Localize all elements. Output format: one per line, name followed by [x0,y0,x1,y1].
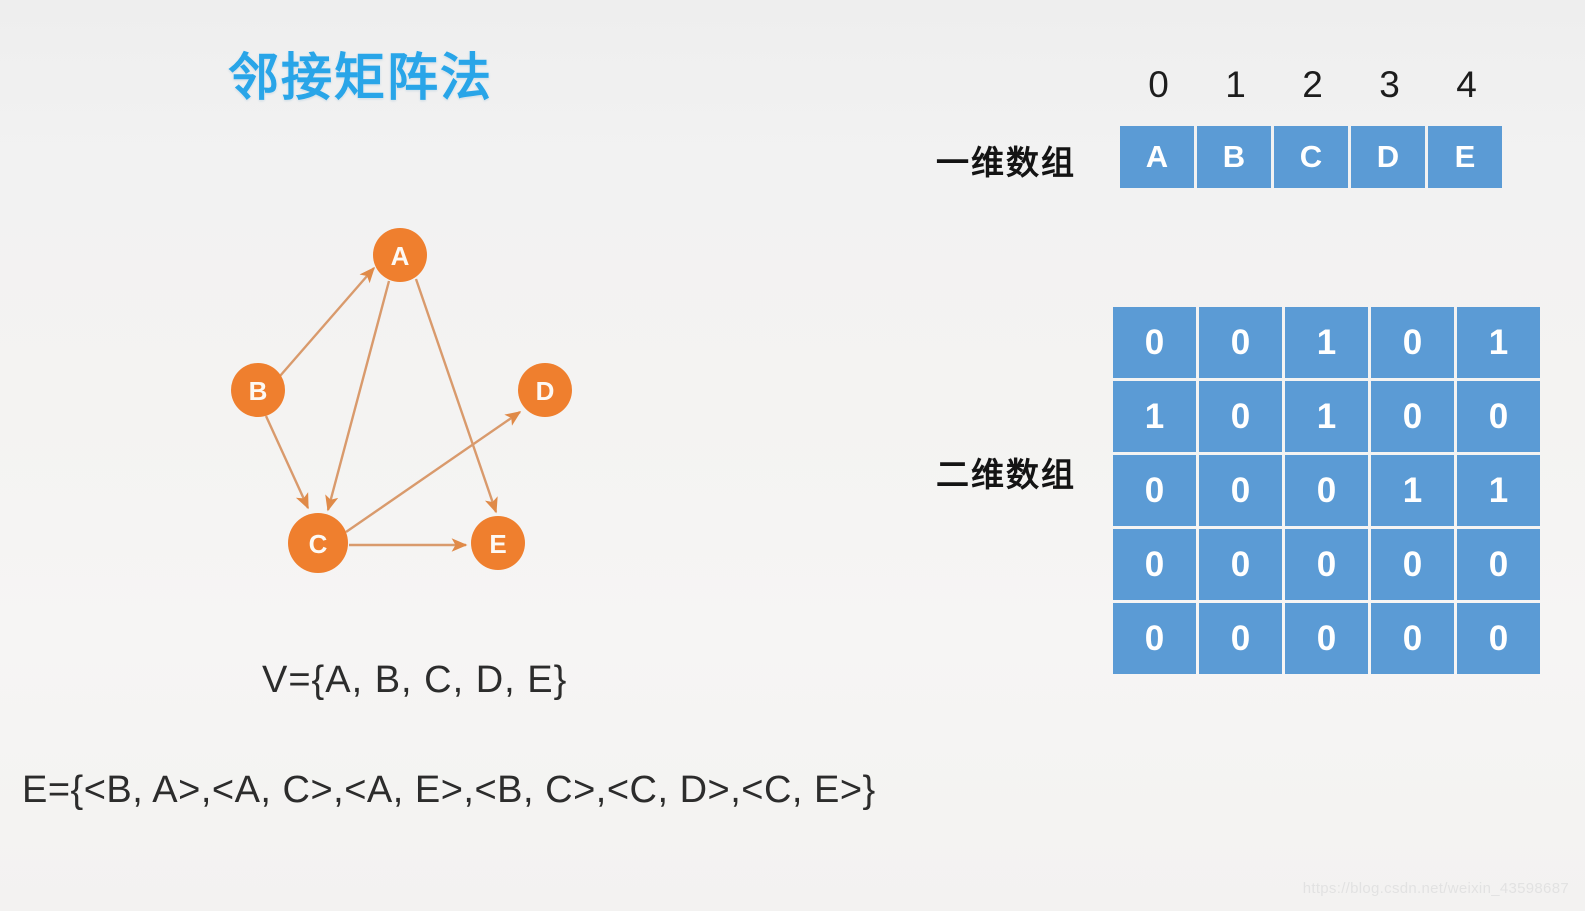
matrix-cell-2-4[interactable]: 1 [1457,455,1540,526]
matrix-cell-0-2[interactable]: 1 [1285,307,1368,378]
matrix-cell-1-1[interactable]: 0 [1199,381,1282,452]
matrix-cell-0-1[interactable]: 0 [1199,307,1282,378]
matrix-cell-0-0[interactable]: 0 [1113,307,1196,378]
graph-svg: A B C D E [200,200,630,600]
matrix-cell-2-0[interactable]: 0 [1113,455,1196,526]
vertex-set-formula: V={A, B, C, D, E} [262,659,567,702]
matrix-cell-0-3[interactable]: 0 [1371,307,1454,378]
graph-node-b[interactable]: B [231,363,285,417]
matrix-cell-3-3[interactable]: 0 [1371,529,1454,600]
graph-node-e-label: E [489,529,506,559]
array1d-cell-row: A B C D E [1120,126,1502,188]
watermark: https://blog.csdn.net/weixin_43598687 [1303,880,1569,897]
matrix-cell-4-4[interactable]: 0 [1457,603,1540,674]
array1d-index-0: 0 [1120,64,1197,106]
array1d-cell-3[interactable]: D [1351,126,1425,188]
slide-canvas: 邻接矩阵法 [0,0,1585,911]
adjacency-matrix-grid: 0 0 1 0 1 1 0 1 0 0 0 0 0 1 1 0 [1113,307,1540,674]
table-row: 0 0 0 0 0 [1113,529,1540,600]
array1d-index-2: 2 [1274,64,1351,106]
matrix-cell-1-0[interactable]: 1 [1113,381,1196,452]
matrix-cell-4-1[interactable]: 0 [1199,603,1282,674]
graph-node-e[interactable]: E [471,516,525,570]
edge-set-formula: E={<B, A>,<A, C>,<A, E>,<B, C>,<C, D>,<C… [22,769,876,812]
matrix-cell-3-1[interactable]: 0 [1199,529,1282,600]
array1d-index-4: 4 [1428,64,1505,106]
page-title: 邻接矩阵法 [228,36,493,110]
graph-node-b-label: B [249,376,268,406]
array1d-cell-0[interactable]: A [1120,126,1194,188]
array1d-index-row: 0 1 2 3 4 [1120,64,1505,106]
matrix-cell-2-1[interactable]: 0 [1199,455,1282,526]
matrix-cell-2-2[interactable]: 0 [1285,455,1368,526]
matrix-cell-3-4[interactable]: 0 [1457,529,1540,600]
array1d-index-3: 3 [1351,64,1428,106]
table-row: 1 0 1 0 0 [1113,381,1540,452]
table-row: 0 0 0 0 0 [1113,603,1540,674]
graph-edge-a-e [416,279,496,512]
graph-node-group: A B C D E [231,228,572,573]
graph-diagram: A B C D E [200,200,630,600]
matrix-cell-4-0[interactable]: 0 [1113,603,1196,674]
graph-node-d-label: D [536,376,555,406]
graph-node-c[interactable]: C [288,513,348,573]
array1d-label: 一维数组 [936,136,1076,184]
graph-node-a-label: A [391,241,410,271]
graph-edge-group [266,268,520,545]
matrix2d-label: 二维数组 [936,448,1076,496]
matrix-cell-1-2[interactable]: 1 [1285,381,1368,452]
array1d-cell-1[interactable]: B [1197,126,1271,188]
table-row: 0 0 1 0 1 [1113,307,1540,378]
matrix-cell-3-2[interactable]: 0 [1285,529,1368,600]
matrix-cell-4-2[interactable]: 0 [1285,603,1368,674]
array1d-cell-2[interactable]: C [1274,126,1348,188]
graph-edge-b-a [280,268,374,376]
table-row: 0 0 0 1 1 [1113,455,1540,526]
matrix-cell-1-4[interactable]: 0 [1457,381,1540,452]
matrix-cell-2-3[interactable]: 1 [1371,455,1454,526]
matrix-cell-3-0[interactable]: 0 [1113,529,1196,600]
graph-node-a[interactable]: A [373,228,427,282]
graph-edge-b-c [266,416,308,508]
graph-edge-a-c [328,281,389,510]
matrix-cell-1-3[interactable]: 0 [1371,381,1454,452]
array1d-index-1: 1 [1197,64,1274,106]
matrix-cell-4-3[interactable]: 0 [1371,603,1454,674]
array1d-cell-4[interactable]: E [1428,126,1502,188]
graph-node-c-label: C [309,529,328,559]
matrix-cell-0-4[interactable]: 1 [1457,307,1540,378]
graph-node-d[interactable]: D [518,363,572,417]
graph-edge-c-d [346,412,520,532]
